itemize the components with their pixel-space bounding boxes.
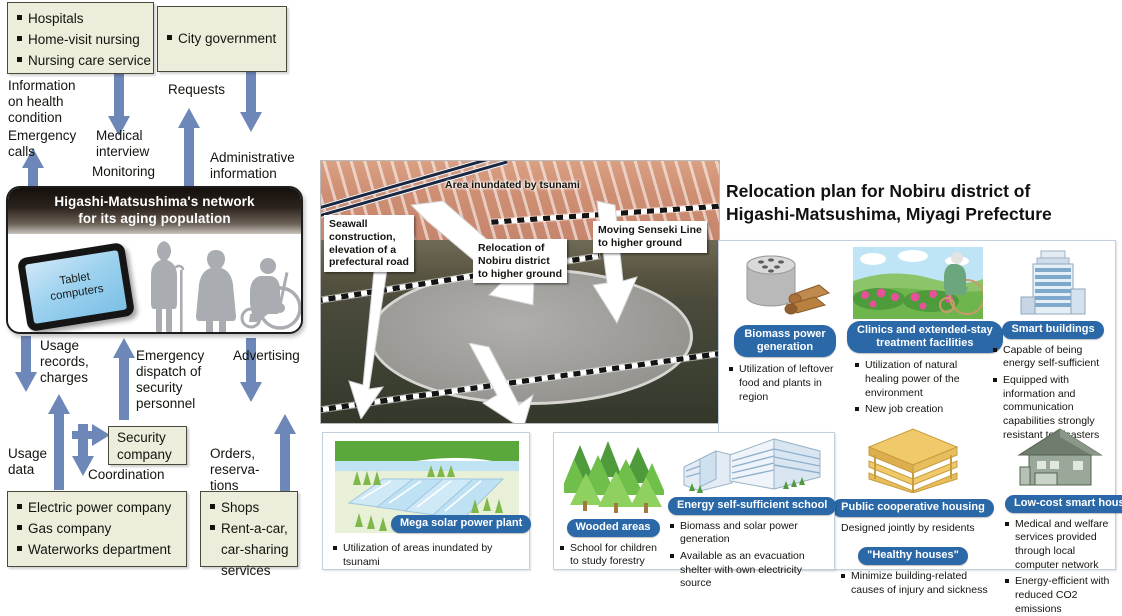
aerial-photo: Area inundated by tsunami Seawall constr…	[320, 160, 720, 424]
wheelchair-user-icon	[236, 252, 303, 334]
public-housing-pill[interactable]: Public cooperative housing	[832, 499, 994, 517]
list-item: Nursing care service	[17, 51, 145, 72]
list-item: Utilization of natural healing power of …	[855, 359, 987, 400]
low-cost-houses-label: Low-cost smart houses	[1005, 493, 1111, 513]
security-line1: Security	[117, 430, 166, 445]
clinics-bullets: Utilization of natural healing power of …	[855, 359, 987, 417]
callout-senseki-line: Moving Senseki Line to higher ground	[593, 221, 707, 253]
label-emergency-calls: Emergency calls	[8, 128, 76, 160]
tablet-label-line2: computers	[49, 283, 104, 303]
list-item: Rent-a-car, car-sharing services	[210, 519, 289, 582]
solar-pill[interactable]: Mega solar power plant	[391, 515, 531, 533]
network-title-line1: Higashi-Matsushima's network	[54, 194, 254, 211]
list-item: Utilization of leftover food and plants …	[729, 363, 841, 404]
callout-relocation: Relocation of Nobiru district to higher …	[473, 239, 567, 283]
arrow-requests	[178, 108, 200, 190]
public-housing-bullets: Designed jointly by residents	[831, 522, 999, 536]
biomass-label: Biomass power generation	[729, 325, 841, 357]
list-item: Minimize building-related causes of inju…	[841, 570, 999, 597]
biomass-icon	[741, 251, 833, 323]
label-orders-reservations: Orders, reserva- tions	[210, 446, 260, 494]
arrow-orders-reservations	[274, 414, 296, 492]
school-building-icon	[674, 437, 824, 493]
label-requests: Requests	[168, 82, 225, 98]
utilities-box[interactable]: Electric power company Gas company Water…	[7, 491, 187, 567]
arrow-administrative-information	[240, 70, 262, 132]
arrow-emergency-dispatch	[113, 338, 135, 420]
clinics-label: Clinics and extended-stay treatment faci…	[847, 321, 987, 353]
list-item: Hospitals	[17, 9, 145, 30]
wooded-areas-bullets: School for children to study forestry	[560, 542, 666, 569]
cell-wooded-areas: Wooded areas School for children to stud…	[560, 439, 666, 569]
network-title-line2: for its aging population	[78, 211, 230, 228]
list-item: Gas company	[17, 519, 178, 540]
medical-providers-box[interactable]: Hospitals Home-visit nursing Nursing car…	[7, 2, 154, 74]
smart-buildings-label: Smart buildings	[993, 319, 1113, 339]
solar-label-wrap: Mega solar power plant	[391, 513, 531, 533]
list-item: Available as an evacuation shelter with …	[670, 550, 832, 591]
label-information-on-health-condition: Information on health condition	[8, 78, 76, 126]
cell-public-housing: Public cooperative housing Designed join…	[827, 427, 999, 597]
list-item: Utilization of areas inundated by tsunam…	[333, 542, 523, 569]
arrow-usage-records	[48, 394, 70, 490]
area-inundated-label: Area inundated by tsunami	[445, 179, 580, 191]
list-item: Medical and welfare services provided th…	[1005, 518, 1111, 573]
label-usage-data: Usage data	[8, 446, 47, 478]
cell-low-cost-smart-houses: Low-cost smart houses Medical and welfar…	[1005, 427, 1111, 616]
network-box-body: Tablet computers	[8, 234, 301, 334]
house-icon	[1017, 427, 1103, 489]
public-housing-label: Public cooperative housing	[827, 497, 999, 517]
page-title: Relocation plan for Nobiru district of H…	[726, 180, 1116, 227]
security-company-box[interactable]: Security company	[108, 426, 187, 465]
list-item: Biomass and solar power generation	[670, 520, 832, 547]
arrow-senseki-line	[583, 199, 657, 329]
list-item: Home-visit nursing	[17, 30, 145, 51]
label-medical-interview: Medical interview	[96, 128, 149, 160]
healthy-houses-pill[interactable]: "Healthy houses"	[858, 547, 968, 565]
cell-clinics: Clinics and extended-stay treatment faci…	[847, 247, 987, 417]
healthy-houses-label: "Healthy houses"	[827, 545, 999, 565]
clinics-pill[interactable]: Clinics and extended-stay treatment faci…	[847, 321, 1003, 353]
list-item: Energy-efficient with reduced CO2 emissi…	[1005, 575, 1111, 616]
label-coordination: Coordination	[88, 467, 165, 483]
energy-school-label: Energy self-sufficient school	[668, 495, 832, 515]
low-cost-houses-pill[interactable]: Low-cost smart houses	[1005, 495, 1122, 513]
list-item: Capable of being energy self-sufficient	[993, 344, 1113, 371]
list-item: School for children to study forestry	[560, 542, 666, 569]
smart-buildings-pill[interactable]: Smart buildings	[1002, 321, 1103, 339]
solar-panel-card: Mega solar power plant Utilization of ar…	[322, 432, 530, 570]
list-item: Waterworks department	[17, 540, 178, 561]
infographic-root: Hospitals Home-visit nursing Nursing car…	[0, 0, 1122, 575]
wooded-areas-label: Wooded areas	[560, 517, 666, 537]
office-tower-icon	[1015, 249, 1091, 319]
tablet-device: Tablet computers	[17, 242, 135, 332]
list-item: New job creation	[855, 403, 987, 417]
forest-icon	[564, 439, 664, 517]
label-advertising: Advertising	[233, 348, 300, 364]
wooden-housing-icon	[853, 427, 961, 493]
list-item: Electric power company	[17, 498, 178, 519]
arrow-to-panel	[449, 343, 549, 424]
cell-biomass: Biomass power generation Utilization of …	[729, 249, 841, 404]
solar-bullets: Utilization of areas inundated by tsunam…	[333, 539, 523, 569]
wooded-areas-pill[interactable]: Wooded areas	[567, 519, 660, 537]
biomass-bullets: Utilization of leftover food and plants …	[729, 363, 841, 404]
elderly-woman-icon	[194, 248, 238, 334]
arrow-usage-data	[15, 336, 37, 392]
callout-seawall: Seawall construction, elevation of a pre…	[324, 215, 414, 272]
green-panel-card: Wooded areas School for children to stud…	[553, 432, 835, 570]
network-box-header: Higashi-Matsushima's network for its agi…	[8, 188, 301, 234]
low-cost-houses-bullets: Medical and welfare services provided th…	[1005, 518, 1111, 616]
cell-energy-school: Energy self-sufficient school Biomass an…	[668, 437, 832, 591]
network-box: Higashi-Matsushima's network for its agi…	[6, 186, 303, 334]
elderly-man-with-cane-icon	[140, 238, 198, 334]
label-usage-records-charges: Usage records, charges	[40, 338, 89, 386]
list-item: City government	[167, 29, 278, 50]
page-title-line2: Higashi-Matsushima, Miyagi Prefecture	[726, 203, 1116, 226]
clinic-icon	[853, 247, 983, 319]
cell-smart-buildings: Smart buildings Capable of being energy …	[993, 247, 1113, 442]
energy-school-bullets: Biomass and solar power generation Avail…	[670, 520, 832, 591]
arrow-medical-interview	[108, 70, 130, 136]
label-monitoring: Monitoring	[92, 164, 155, 180]
commerce-box[interactable]: Shops Rent-a-car, car-sharing services	[200, 491, 298, 567]
list-item: Shops	[210, 498, 289, 519]
biomass-pill[interactable]: Biomass power generation	[734, 325, 835, 357]
list-item: Designed jointly by residents	[831, 522, 999, 536]
label-administrative-information: Administrative information	[210, 150, 295, 182]
healthy-houses-bullets: Minimize building-related causes of inju…	[841, 570, 999, 597]
page-title-line1: Relocation plan for Nobiru district of	[726, 180, 1116, 203]
city-government-box[interactable]: City government	[157, 6, 287, 72]
security-line2: company	[117, 447, 172, 462]
energy-school-pill[interactable]: Energy self-sufficient school	[668, 497, 836, 515]
label-emergency-dispatch: Emergency dispatch of security personnel	[136, 348, 204, 412]
